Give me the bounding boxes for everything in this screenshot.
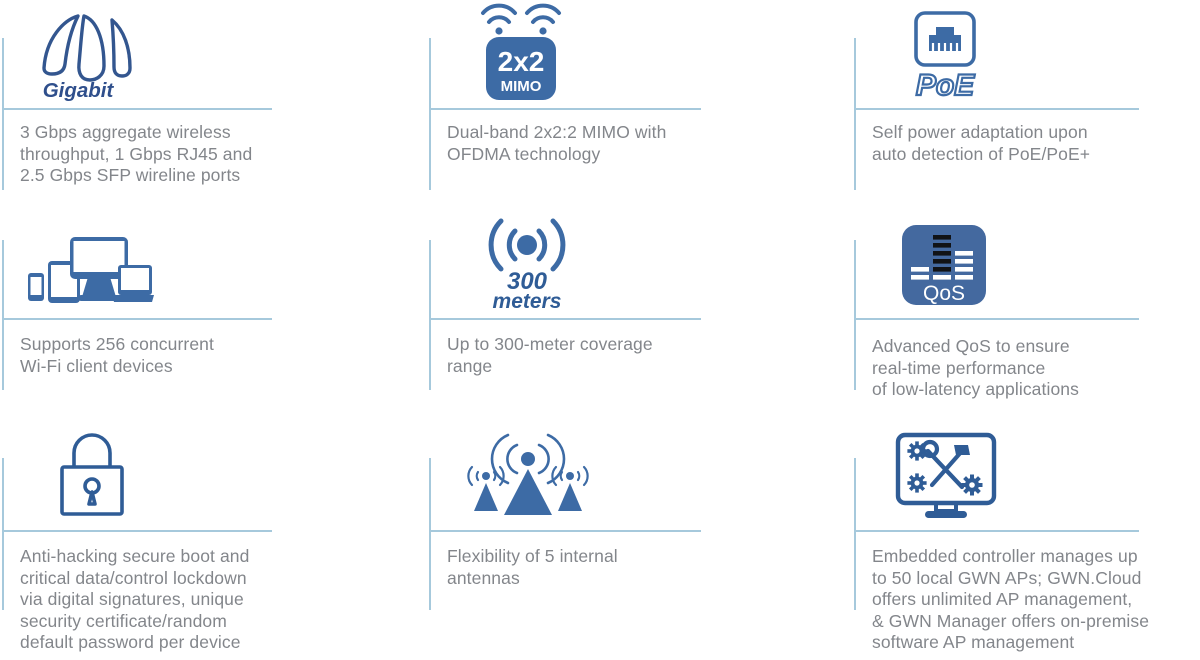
feature-icon-area (449, 420, 699, 526)
feature-icon-area (20, 422, 270, 528)
feature-description: Anti-hacking secure boot and critical da… (20, 546, 330, 654)
poe-rj45-icon: PoE (898, 5, 994, 101)
feature-card-poe: PoE Self power adaptation upon auto dete… (850, 0, 1200, 210)
divider-horizontal (854, 108, 1139, 110)
qos-equalizer-icon: QoS (898, 221, 990, 309)
feature-icon-area: QoS (874, 212, 1124, 318)
divider-horizontal (429, 318, 701, 320)
feature-description: Embedded controller manages up to 50 loc… (872, 546, 1200, 654)
feature-icon-area: Gigabit (20, 0, 270, 106)
feature-card-gigabit: Gigabit 3 Gbps aggregate wireless throug… (0, 0, 425, 210)
feature-card-qos: QoS Advanced QoS to ensure real-time per… (850, 210, 1200, 420)
multi-device-icon (26, 227, 154, 307)
feature-grid: Gigabit 3 Gbps aggregate wireless throug… (0, 0, 1200, 660)
divider-vertical (429, 458, 431, 610)
divider-vertical (854, 458, 856, 610)
feature-description: 3 Gbps aggregate wireless throughput, 1 … (20, 122, 320, 187)
divider-horizontal (429, 108, 701, 110)
padlock-icon (54, 427, 130, 523)
divider-vertical (2, 458, 4, 610)
gigabit-label: Gigabit (43, 79, 115, 102)
feature-description: Flexibility of 5 internal antennas (447, 546, 747, 589)
feature-card-mimo: 2x2 MIMO Dual-band 2x2:2 MIMO with OFDMA… (425, 0, 850, 210)
divider-vertical (854, 240, 856, 390)
wireless-range-icon: 300 meters (469, 207, 585, 311)
feature-card-clients: Supports 256 concurrent Wi-Fi client dev… (0, 210, 425, 420)
feature-icon-area (874, 422, 1124, 528)
feature-card-security: Anti-hacking secure boot and critical da… (0, 420, 425, 660)
divider-vertical (429, 38, 431, 190)
feature-description: Dual-band 2x2:2 MIMO with OFDMA technolo… (447, 122, 747, 165)
feature-icon-area: 2x2 MIMO (449, 0, 699, 106)
feature-card-controller: Embedded controller manages up to 50 loc… (850, 420, 1200, 660)
qos-label: QoS (923, 282, 965, 305)
range-secondary-label: meters (493, 290, 562, 313)
feature-description: Self power adaptation upon auto detectio… (872, 122, 1162, 165)
mimo-secondary-label: MIMO (501, 78, 542, 95)
divider-horizontal (854, 318, 1139, 320)
mimo-primary-label: 2x2 (498, 46, 545, 77)
feature-card-antennas: Flexibility of 5 internal antennas (425, 420, 850, 660)
2x2-mimo-icon: 2x2 MIMO (477, 3, 569, 103)
feature-icon-area: PoE (874, 0, 1124, 106)
poe-label: PoE (916, 69, 975, 102)
divider-vertical (854, 38, 856, 190)
feature-icon-area: 300 meters (449, 206, 699, 312)
divider-horizontal (854, 530, 1139, 532)
divider-horizontal (2, 108, 272, 110)
divider-vertical (429, 240, 431, 390)
gigabit-logo-icon: Gigabit (34, 4, 144, 102)
internal-antennas-icon (455, 423, 601, 523)
feature-description: Advanced QoS to ensure real-time perform… (872, 336, 1162, 401)
feature-description: Up to 300-meter coverage range (447, 334, 747, 377)
divider-horizontal (2, 530, 272, 532)
feature-card-range: 300 meters Up to 300-meter coverage rang… (425, 210, 850, 420)
monitor-tools-icon (892, 429, 1000, 521)
divider-vertical (2, 240, 4, 390)
divider-vertical (2, 38, 4, 190)
divider-horizontal (429, 530, 701, 532)
feature-description: Supports 256 concurrent Wi-Fi client dev… (20, 334, 320, 377)
feature-icon-area (20, 214, 270, 320)
